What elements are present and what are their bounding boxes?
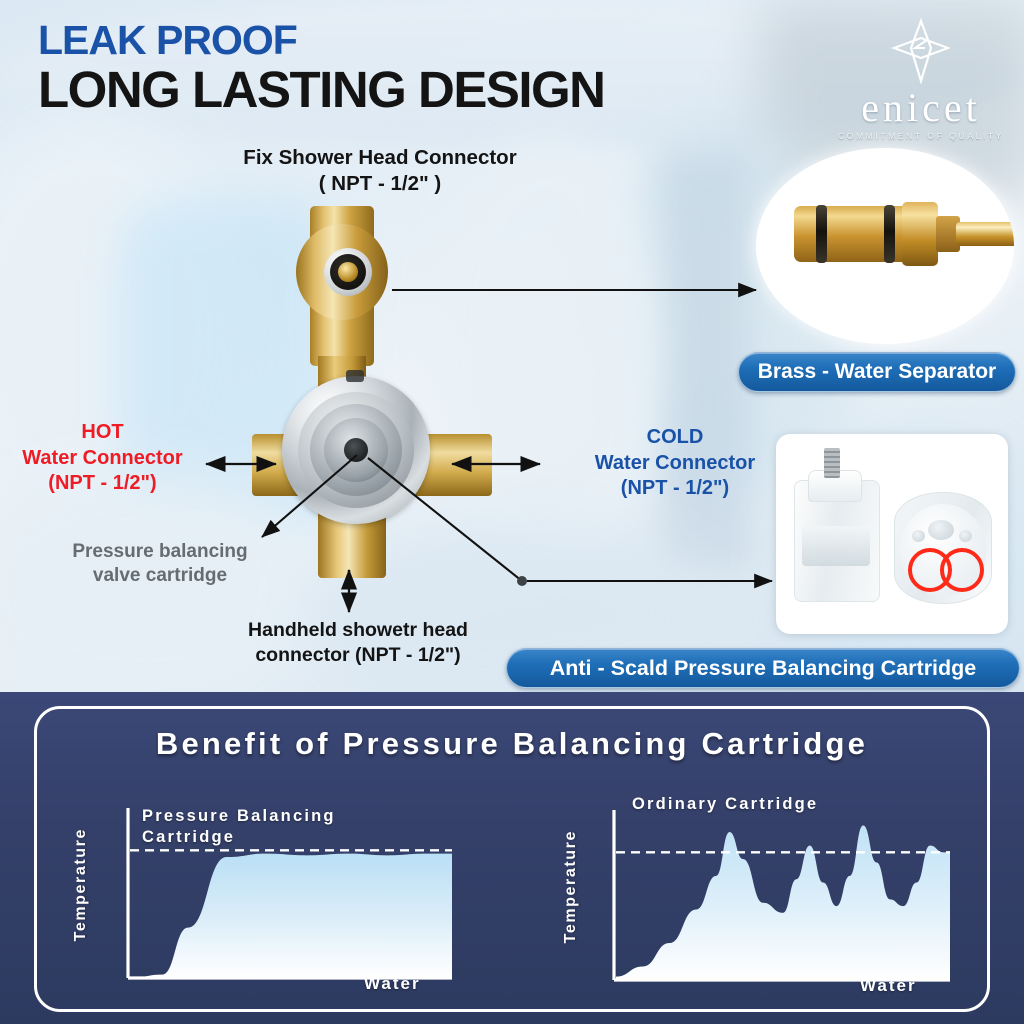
chart-right-ylabel: Temperature (562, 830, 580, 943)
callout-handheld-line2: connector (NPT - 1/2") (198, 643, 518, 668)
callout-fix-shower-head-line2: ( NPT - 1/2" ) (182, 171, 578, 197)
chart-ordinary-cartridge: Temperature Ordinary Cartridge Water (560, 790, 980, 1005)
callout-hot-water-connector: HOT Water Connector (NPT - 1/2") (0, 420, 210, 497)
red-highlight-ring-right (940, 548, 984, 592)
badge-brass-water-separator: Brass - Water Separator (738, 352, 1016, 392)
callout-cold-line2: Water Connector (545, 451, 805, 477)
callout-fix-shower-head: Fix Shower Head Connector ( NPT - 1/2" ) (182, 145, 578, 197)
callout-cold-line3: (NPT - 1/2") (545, 476, 805, 502)
chart-left-ylabel: Temperature (72, 828, 90, 941)
headline-long-lasting: LONG LASTING DESIGN (38, 63, 605, 117)
chart-right-plot (606, 808, 976, 994)
brand-logo: enicet COMMITMENT OF QUALITY (836, 18, 1006, 141)
badge-anti-scald-cartridge: Anti - Scald Pressure Balancing Cartridg… (506, 648, 1020, 688)
cartridge-pair-photo (776, 434, 1008, 634)
diamond-star-icon (891, 18, 951, 84)
callout-hot-line2: Water Connector (0, 446, 210, 472)
callout-hot-line1: HOT (0, 420, 210, 446)
callout-handheld-line1: Handheld showetr head (198, 618, 518, 643)
callout-fix-shower-head-line1: Fix Shower Head Connector (182, 145, 578, 171)
callout-hot-line3: (NPT - 1/2") (0, 471, 210, 497)
callout-cold-line1: COLD (545, 425, 805, 451)
callout-pbv-line1: Pressure balancing (15, 540, 305, 564)
chart-left-plot (120, 806, 480, 992)
infographic-canvas: LEAK PROOF LONG LASTING DESIGN enicet CO… (0, 0, 1024, 1024)
benefit-panel-title: Benefit of Pressure Balancing Cartridge (0, 726, 1024, 762)
chart-pressure-balancing: Temperature Pressure BalancingCartridge … (72, 800, 492, 1005)
callout-pressure-balancing-valve: Pressure balancing valve cartridge (15, 540, 305, 589)
brand-tagline: COMMITMENT OF QUALITY (836, 131, 1006, 141)
page-title: LEAK PROOF LONG LASTING DESIGN (38, 20, 605, 117)
callout-pbv-line2: valve cartridge (15, 564, 305, 588)
callout-cold-water-connector: COLD Water Connector (NPT - 1/2") (545, 425, 805, 502)
brand-name: enicet (836, 88, 1006, 128)
brass-separator-photo (756, 148, 1014, 344)
callout-handheld-connector: Handheld showetr head connector (NPT - 1… (198, 618, 518, 668)
headline-leak-proof: LEAK PROOF (38, 20, 605, 61)
